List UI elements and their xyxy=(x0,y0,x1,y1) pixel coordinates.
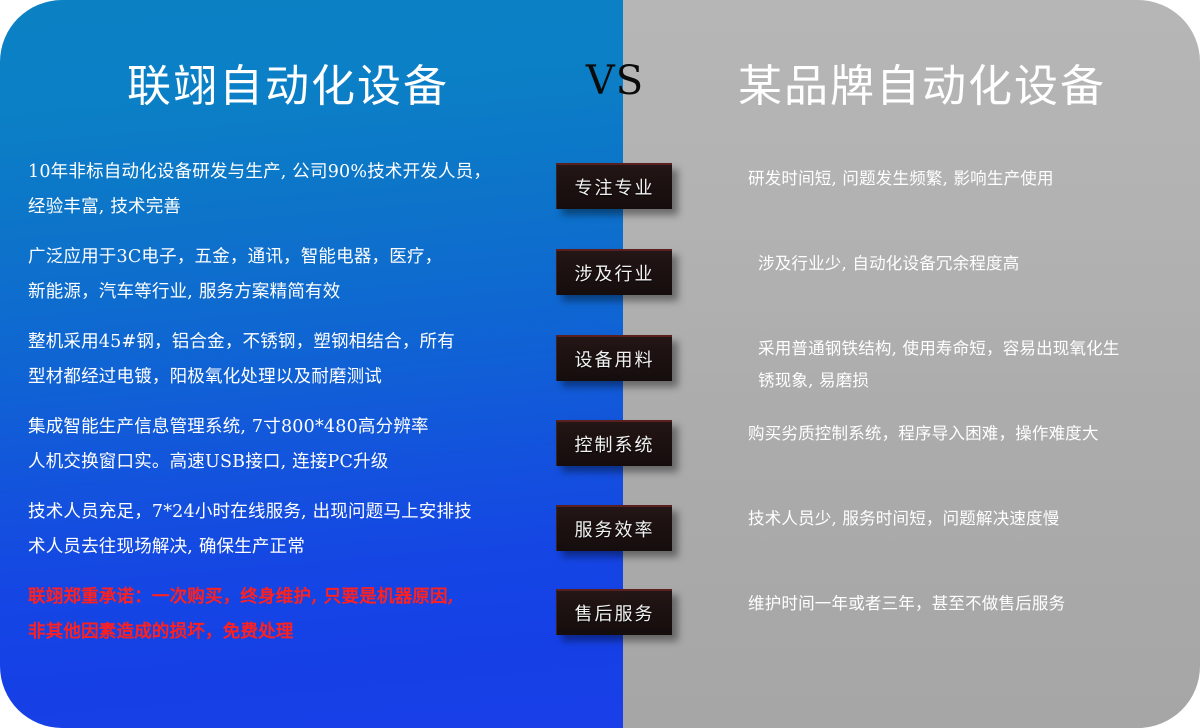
category-plaque-label: 专注专业 xyxy=(575,174,655,200)
right-feature-line: 研发时间短, 问题发生频繁, 影响生产使用 xyxy=(748,163,1188,195)
right-feature-line: 技术人员少, 服务时间短，问题解决速度慢 xyxy=(748,503,1188,535)
category-plaque[interactable]: 专注专业 xyxy=(556,163,672,209)
left-feature-line: 新能源，汽车等行业, 服务方案精简有效 xyxy=(28,275,538,310)
right-feature-list: 研发时间短, 问题发生频繁, 影响生产使用涉及行业少, 自动化设备冗余程度高采用… xyxy=(748,163,1188,673)
right-feature-item: 采用普通钢铁结构, 使用寿命短，容易出现氧化生锈现象, 易磨损 xyxy=(748,333,1188,418)
left-feature-line: 技术人员充足，7*24小时在线服务, 出现问题马上安排技 xyxy=(28,495,538,530)
left-feature-item: 整机采用45#钢，铝合金，不锈钢，塑钢相结合，所有型材都经过电镀，阳极氧化处理以… xyxy=(28,325,538,410)
category-plaque[interactable]: 售后服务 xyxy=(556,589,672,635)
left-feature-line: 集成智能生产信息管理系统, 7寸800*480高分辨率 xyxy=(28,410,538,445)
left-feature-line: 广泛应用于3C电子，五金，通讯，智能电器，医疗， xyxy=(28,240,538,275)
left-feature-line: 非其他因素造成的损坏，免费处理 xyxy=(28,615,538,650)
left-feature-line: 经验丰富, 技术完善 xyxy=(28,190,538,225)
right-feature-item: 技术人员少, 服务时间短，问题解决速度慢 xyxy=(748,503,1188,588)
category-plaque-label: 服务效率 xyxy=(575,516,655,542)
category-plaque-label: 控制系统 xyxy=(575,431,655,457)
right-company-title: 某品牌自动化设备 xyxy=(672,50,1172,114)
right-feature-line: 涉及行业少, 自动化设备冗余程度高 xyxy=(758,248,1188,280)
category-plaque-label: 涉及行业 xyxy=(575,260,655,286)
right-feature-line: 采用普通钢铁结构, 使用寿命短，容易出现氧化生 xyxy=(758,333,1188,365)
category-plaque[interactable]: 涉及行业 xyxy=(556,249,672,295)
right-feature-item: 维护时间一年或者三年，甚至不做售后服务 xyxy=(748,588,1188,673)
vs-label: VS xyxy=(560,58,670,104)
left-feature-item: 10年非标自动化设备研发与生产, 公司90%技术开发人员，经验丰富, 技术完善 xyxy=(28,155,538,240)
right-feature-line: 维护时间一年或者三年，甚至不做售后服务 xyxy=(748,588,1188,620)
right-feature-item: 研发时间短, 问题发生频繁, 影响生产使用 xyxy=(748,163,1188,248)
right-feature-item: 涉及行业少, 自动化设备冗余程度高 xyxy=(748,248,1188,333)
left-feature-line: 整机采用45#钢，铝合金，不锈钢，塑钢相结合，所有 xyxy=(28,325,538,360)
left-feature-promise: 联翊郑重承诺：一次购买，终身维护, 只要是机器原因,非其他因素造成的损坏，免费处… xyxy=(28,580,538,665)
left-feature-line: 术人员去往现场解决, 确保生产正常 xyxy=(28,530,538,565)
category-plaque[interactable]: 控制系统 xyxy=(556,420,672,466)
left-feature-item: 广泛应用于3C电子，五金，通讯，智能电器，医疗，新能源，汽车等行业, 服务方案精… xyxy=(28,240,538,325)
right-feature-item: 购买劣质控制系统，程序导入困难，操作难度大 xyxy=(748,418,1188,503)
left-feature-line: 联翊郑重承诺：一次购买，终身维护, 只要是机器原因, xyxy=(28,580,538,615)
comparison-infographic: 联翊自动化设备 VS 某品牌自动化设备 10年非标自动化设备研发与生产, 公司9… xyxy=(0,0,1200,728)
category-plaque-label: 售后服务 xyxy=(575,600,655,626)
left-company-title: 联翊自动化设备 xyxy=(0,50,576,114)
left-feature-line: 人机交换窗口实。高速USB接口, 连接PC升级 xyxy=(28,445,538,480)
left-feature-item: 技术人员充足，7*24小时在线服务, 出现问题马上安排技术人员去往现场解决, 确… xyxy=(28,495,538,580)
left-feature-line: 10年非标自动化设备研发与生产, 公司90%技术开发人员， xyxy=(28,155,538,190)
right-feature-line: 购买劣质控制系统，程序导入困难，操作难度大 xyxy=(748,418,1188,450)
category-plaque[interactable]: 设备用料 xyxy=(556,335,672,381)
left-feature-list: 10年非标自动化设备研发与生产, 公司90%技术开发人员，经验丰富, 技术完善广… xyxy=(28,155,538,665)
category-plaque[interactable]: 服务效率 xyxy=(556,505,672,551)
category-plaque-label: 设备用料 xyxy=(575,346,655,372)
left-feature-item: 集成智能生产信息管理系统, 7寸800*480高分辨率人机交换窗口实。高速USB… xyxy=(28,410,538,495)
right-feature-line: 锈现象, 易磨损 xyxy=(758,365,1188,397)
left-feature-line: 型材都经过电镀，阳极氧化处理以及耐磨测试 xyxy=(28,360,538,395)
